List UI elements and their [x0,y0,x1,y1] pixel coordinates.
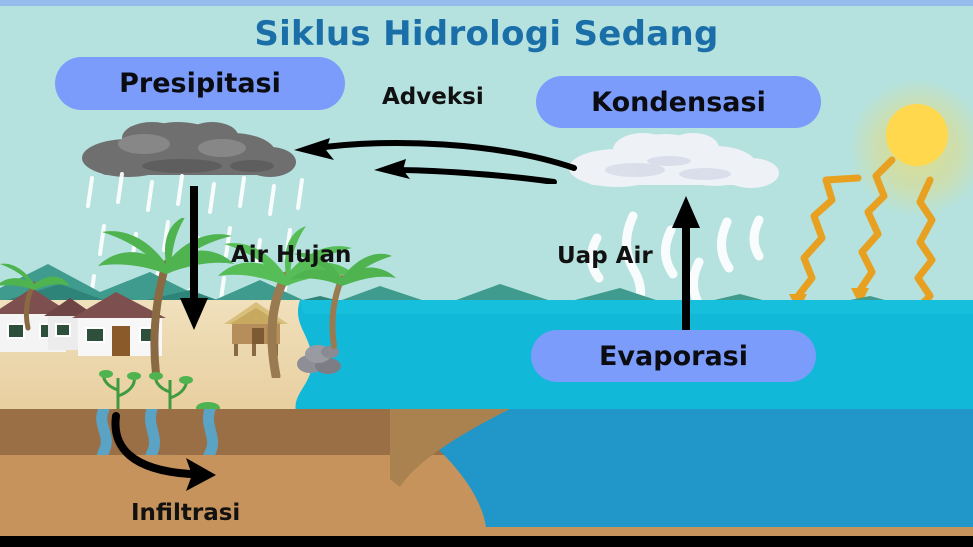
palm-tree-group-far-left [0,262,70,332]
white-cloud-icon [565,128,780,190]
adveksi-arrow-group [278,128,578,184]
label-kondensasi[interactable]: Kondensasi [536,76,821,128]
page-title: Siklus Hidrologi Sedang [0,14,973,54]
bottom-bar [0,536,973,547]
label-infiltrasi: Infiltrasi [131,500,240,526]
sprout-group [96,368,226,414]
up-arrow-icon [670,192,702,338]
sky-top-strip [0,0,973,6]
rain-cloud-icon [82,118,297,180]
hydrologic-cycle-diagram: Siklus Hidrologi Sedang [0,0,973,547]
label-presipitasi[interactable]: Presipitasi [55,57,345,110]
label-adveksi: Adveksi [382,84,484,110]
label-evaporasi[interactable]: Evaporasi [531,330,816,382]
curved-down-right-arrow-icon [108,412,238,494]
label-uap-air: Uap Air [557,243,653,269]
ocean-deep-wedge [390,409,973,539]
label-air-hujan: Air Hujan [231,242,351,268]
down-arrow-icon [178,186,210,332]
